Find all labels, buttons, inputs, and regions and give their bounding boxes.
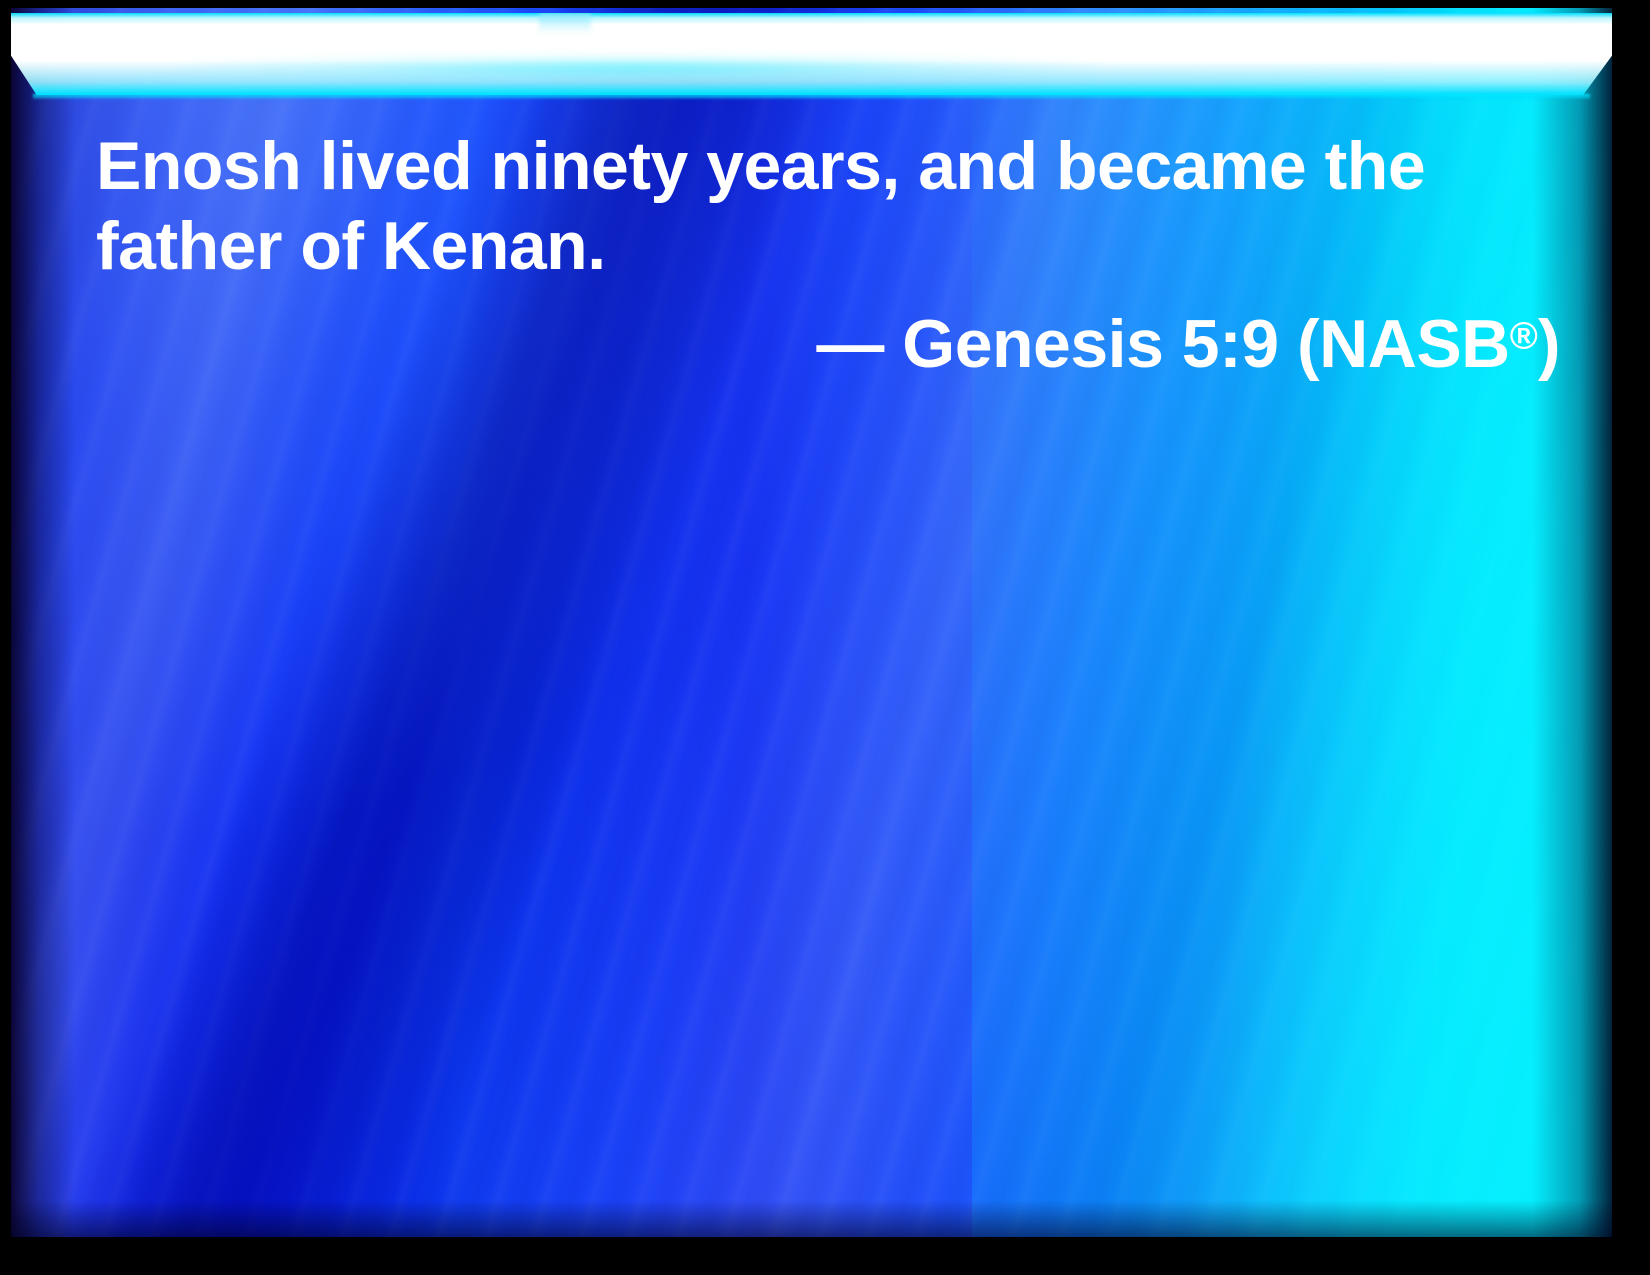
background-vignette-bottom bbox=[11, 1200, 1612, 1237]
registered-trademark-icon: ® bbox=[1510, 316, 1538, 358]
header-bar-cyan-smear bbox=[171, 56, 1100, 81]
verse-reference-citation: Genesis 5:9 (NASB bbox=[902, 306, 1509, 382]
verse-block: Enosh lived ninety years, and became the… bbox=[96, 126, 1576, 385]
header-bar-underline bbox=[33, 94, 1589, 99]
verse-body-text: Enosh lived ninety years, and became the… bbox=[96, 126, 1576, 286]
verse-reference: — Genesis 5:9 (NASB®) bbox=[96, 304, 1576, 384]
verse-reference-close-paren: ) bbox=[1538, 306, 1560, 382]
header-bar bbox=[11, 13, 1612, 95]
verse-reference-dash: — bbox=[816, 306, 902, 382]
background-vignette-left bbox=[11, 8, 75, 1237]
header-bar-highlight-nick bbox=[539, 13, 590, 34]
slide-stage: Enosh lived ninety years, and became the… bbox=[11, 8, 1612, 1237]
slide-frame: Enosh lived ninety years, and became the… bbox=[0, 0, 1650, 1275]
